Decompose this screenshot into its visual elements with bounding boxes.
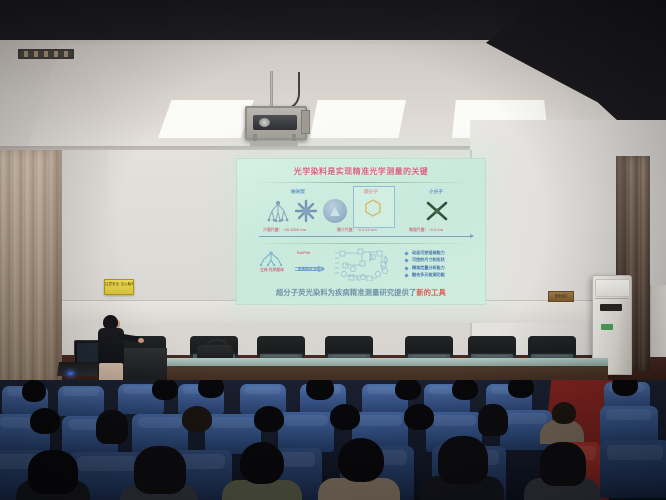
audience-head-m4 — [254, 406, 284, 432]
scale-axis-row: 介观尺度：~10-1000 nm 微介尺度：~0.2-10 nm 微观尺度：~0… — [247, 227, 475, 239]
dendrimer-icon — [265, 200, 291, 222]
category-label-nano: 纳米型 — [291, 189, 305, 195]
seat-row3-5 — [278, 412, 334, 452]
bullet-item-2: 可控的尺寸和形状 — [405, 256, 481, 263]
projector-mount-pole — [270, 71, 273, 107]
audience-head-b5 — [395, 380, 421, 400]
audience-head-b8 — [612, 380, 638, 396]
scale-label-mesoscopic: 介观尺度：~10-1000 nm — [263, 227, 306, 233]
slide-title: 光学染料是实现精准光学测量的关键 — [237, 166, 485, 177]
molecular-network-icon — [333, 247, 395, 281]
audience-head-f4 — [338, 438, 384, 482]
ac-display-panel — [600, 304, 622, 311]
audience-head-m2 — [96, 410, 128, 444]
nanosphere-icon — [323, 199, 347, 223]
left-curtain — [0, 150, 62, 390]
ligand-label: 主体 光学配体 — [255, 268, 289, 273]
projection-screen: 光学染料是实现精准光学测量的关键 纳米型 超分子 小分子 — [236, 158, 486, 305]
conference-table-top — [108, 358, 608, 366]
audience-head-b7 — [508, 380, 534, 398]
ac-top-vent — [595, 279, 630, 297]
audience-head-m3 — [182, 406, 212, 432]
wall-plaque: 安全出口 — [548, 291, 574, 302]
audience-head-b3 — [198, 380, 224, 398]
notice-sign-line-1: 注意安全 当心触电 — [105, 280, 133, 286]
projector-body — [253, 115, 297, 130]
ceiling-vent-icon — [18, 49, 74, 59]
slide-bottom-highlight: 新的工具 — [416, 288, 446, 297]
audience-head-f1 — [28, 450, 78, 494]
slide-divider-top — [253, 182, 469, 183]
audience-head-m1 — [30, 408, 60, 434]
audience-head-m8 — [552, 402, 576, 424]
ceiling-light-panel-1 — [158, 100, 254, 138]
audience-head-f6 — [540, 442, 586, 486]
bullet-item-1: 动态可逆组装能力 — [405, 249, 481, 256]
audience-seating-area — [0, 380, 666, 500]
seat-row2-7 — [600, 440, 666, 498]
audience-head-b2 — [152, 380, 178, 400]
slide-bottom-prefix: 超分子荧光染料为疾病精准测量研究提供了 — [276, 288, 416, 297]
projector-lens-icon — [259, 118, 270, 127]
equipment-led-indicator — [68, 372, 73, 375]
projector-base-plate — [250, 141, 298, 146]
audience-head-f3 — [240, 442, 284, 484]
side-door — [650, 285, 666, 357]
bullet-item-4: 融合多元检测功能 — [405, 271, 481, 278]
scale-label-molecular: 微观尺度：~0.2 nm — [409, 227, 443, 233]
assembly-arrow-icon — [295, 259, 325, 265]
assembly-arrow-caption: 金属驱动 自组装 — [295, 267, 327, 271]
lecture-hall-photo: 注意安全 当心触电 安全出口 光学染料是实现精准光学测量的关键 纳米型 超分子 … — [0, 0, 666, 500]
notice-sign: 注意安全 当心触电 — [104, 279, 134, 295]
projector-side-bracket — [301, 110, 310, 134]
category-label-small-molecule: 小分子 — [429, 189, 443, 195]
audience-head-b4 — [306, 380, 334, 400]
scale-label-microscopic: 微介尺度：~0.2-10 nm — [337, 227, 377, 233]
slide-divider-mid — [253, 243, 469, 244]
slide-bottom-statement: 超分子荧光染料为疾病精准测量研究提供了新的工具 — [237, 288, 485, 298]
audience-head-f2 — [134, 446, 186, 494]
hexagon-icon — [365, 199, 381, 217]
seat-row4-2 — [58, 386, 104, 416]
ac-seam — [595, 298, 628, 299]
star-nanoparticle-icon — [294, 199, 318, 223]
bullet-item-3: 精准定量分析能力 — [405, 264, 481, 271]
slide-bullet-list: 动态可逆组装能力 可控的尺寸和形状 精准定量分析能力 融合多元检测功能 — [405, 249, 481, 279]
audience-head-b6 — [452, 380, 478, 400]
ligand-icon — [259, 251, 283, 267]
audience-head-m5 — [330, 404, 360, 430]
audience-head-b1 — [22, 380, 46, 402]
laptop-icon — [57, 362, 99, 376]
wall-plaque-label: 安全出口 — [549, 292, 573, 300]
speaker-hand — [138, 338, 144, 343]
audience-head-m7 — [478, 404, 508, 436]
presentation-slide: 光学染料是实现精准光学测量的关键 纳米型 超分子 小分子 — [237, 159, 485, 304]
ac-brand-logo — [601, 324, 613, 330]
audience-head-f5 — [438, 436, 488, 484]
cross-molecule-icon — [425, 200, 449, 222]
scale-arrow-icon — [259, 236, 473, 237]
audience-head-m6 — [404, 404, 434, 430]
metal-reagent-label: Ru/Pt/Ir — [297, 251, 311, 255]
ceiling-light-panel-2 — [310, 100, 406, 138]
